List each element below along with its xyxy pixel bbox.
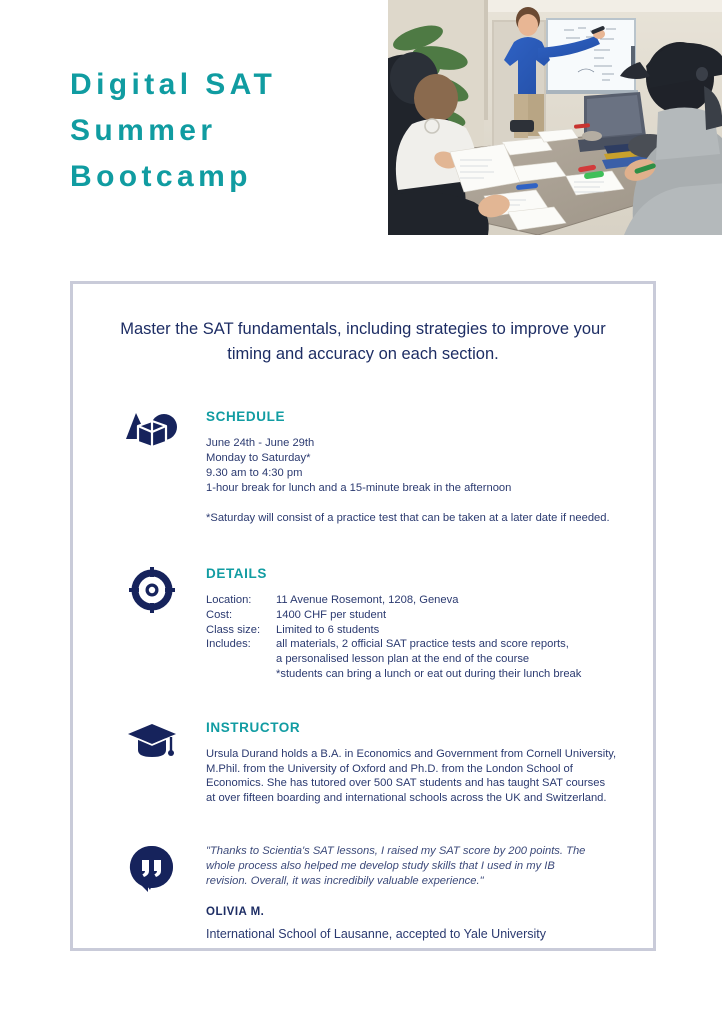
- target-icon: [121, 566, 183, 618]
- details-includes-line-2: a personalised lesson plan at the end of…: [276, 652, 629, 667]
- details-table: Location: 11 Avenue Rosemont, 1208, Gene…: [206, 593, 629, 682]
- title-line-3: Bootcamp: [70, 154, 380, 200]
- details-value-class-size: Limited to 6 students: [276, 623, 629, 638]
- quote-bubble-icon: [121, 844, 183, 896]
- graduation-cap-icon: [121, 720, 183, 772]
- bio-line-1: Ursula Durand holds a B.A. in Economics …: [206, 747, 629, 762]
- content-card: Master the SAT fundamentals, including s…: [70, 281, 656, 951]
- details-value-location: 11 Avenue Rosemont, 1208, Geneva: [276, 593, 629, 608]
- schedule-lines: June 24th - June 29th Monday to Saturday…: [206, 436, 629, 526]
- shapes-icon: [121, 409, 183, 461]
- quote-line-2: whole process also helped me develop stu…: [206, 859, 598, 874]
- details-includes-line-3: *students can bring a lunch or eat out d…: [276, 667, 629, 682]
- schedule-note: *Saturday will consist of a practice tes…: [206, 511, 629, 526]
- schedule-line-3: 9.30 am to 4:30 pm: [206, 466, 629, 481]
- testimonial-author: OLIVIA M.: [206, 906, 629, 918]
- testimonial-quote: "Thanks to Scientia's SAT lessons, I rai…: [206, 844, 598, 889]
- quote-line-1: "Thanks to Scientia's SAT lessons, I rai…: [206, 844, 598, 859]
- bio-line-3: Economics. She has tutored over 500 SAT …: [206, 776, 629, 791]
- bio-line-2: M.Phil. from the University of Oxford an…: [206, 762, 629, 777]
- intro-text: Master the SAT fundamentals, including s…: [73, 317, 653, 367]
- intro-line-1: Master the SAT fundamentals, including s…: [120, 320, 506, 338]
- title-line-1: Digital SAT: [70, 62, 380, 108]
- details-location-line: 11 Avenue Rosemont, 1208, Geneva: [276, 593, 629, 608]
- title-line-2: Summer: [70, 108, 380, 154]
- details-cost-line: 1400 CHF per student: [276, 608, 629, 623]
- details-value-includes: all materials, 2 official SAT practice t…: [276, 637, 629, 681]
- details-label-location: Location:: [206, 593, 276, 608]
- details-label-includes: Includes:: [206, 637, 276, 681]
- schedule-line-2: Monday to Saturday*: [206, 451, 629, 466]
- quote-line-3: revision. Overall, it was incredibily va…: [206, 874, 598, 889]
- testimonial-school: International School of Lausanne, accept…: [206, 926, 629, 942]
- details-includes-line-1: all materials, 2 official SAT practice t…: [276, 637, 629, 652]
- section-title-instructor: INSTRUCTOR: [206, 720, 629, 735]
- poster-page: Digital SAT Summer Bootcamp Master the S…: [0, 0, 722, 1024]
- details-label-cost: Cost:: [206, 608, 276, 623]
- details-value-cost: 1400 CHF per student: [276, 608, 629, 623]
- section-instructor: INSTRUCTOR Ursula Durand holds a B.A. in…: [73, 720, 653, 806]
- details-label-class-size: Class size:: [206, 623, 276, 638]
- section-title-schedule: SCHEDULE: [206, 409, 629, 424]
- schedule-line-4: 1-hour break for lunch and a 15-minute b…: [206, 481, 629, 496]
- details-class-size-line: Limited to 6 students: [276, 623, 629, 638]
- poster-title: Digital SAT Summer Bootcamp: [70, 62, 380, 200]
- section-testimonial: "Thanks to Scientia's SAT lessons, I rai…: [73, 844, 653, 942]
- bio-line-4: at over fifteen boarding and internation…: [206, 791, 629, 806]
- instructor-bio: Ursula Durand holds a B.A. in Economics …: [206, 747, 629, 806]
- schedule-line-1: June 24th - June 29th: [206, 436, 629, 451]
- classroom-photo: [388, 0, 722, 235]
- section-title-details: DETAILS: [206, 566, 629, 581]
- section-schedule: SCHEDULE June 24th - June 29th Monday to…: [73, 409, 653, 526]
- section-details: DETAILS Location: 11 Avenue Rosemont, 12…: [73, 566, 653, 682]
